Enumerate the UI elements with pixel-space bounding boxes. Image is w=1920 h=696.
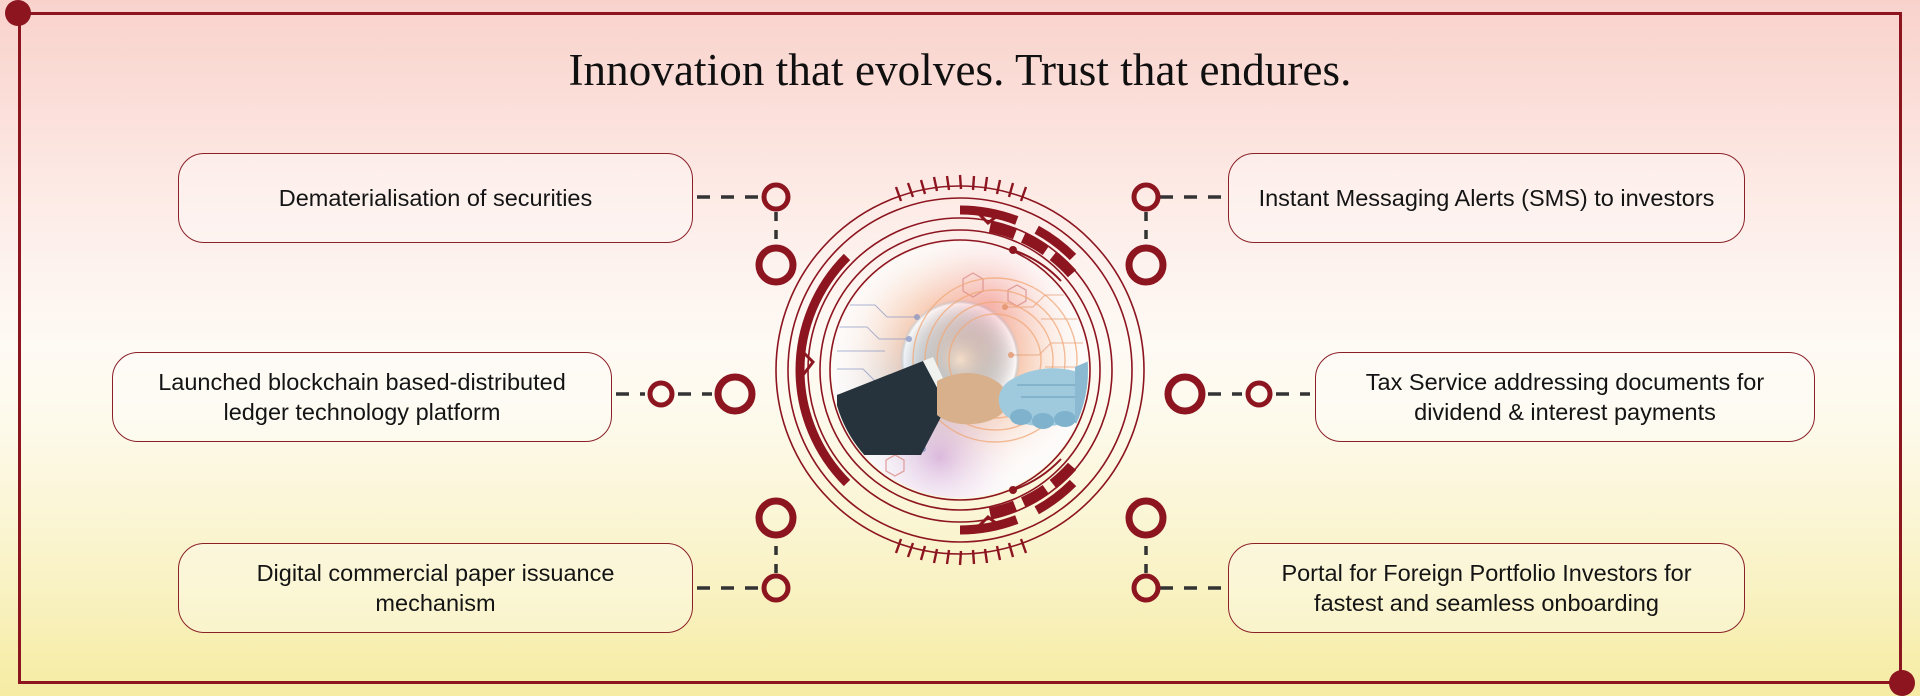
emblem-artwork — [832, 242, 1089, 498]
frame-corner-dot-top-left — [5, 0, 31, 26]
feature-card-tax-service[interactable]: Tax Service addressing documents for div… — [1315, 352, 1815, 442]
feature-card-label: Digital commercial paper issuance mechan… — [197, 558, 674, 618]
feature-card-label: Dematerialisation of securities — [279, 183, 592, 213]
feature-card-label: Portal for Foreign Portfolio Investors f… — [1247, 558, 1726, 618]
feature-card-digital-commercial-paper[interactable]: Digital commercial paper issuance mechan… — [178, 543, 693, 633]
small-ring-node-blockchain — [650, 383, 672, 405]
feature-card-label: Launched blockchain based-distributed le… — [131, 367, 593, 427]
feature-card-label: Instant Messaging Alerts (SMS) to invest… — [1259, 183, 1715, 213]
frame-corner-dot-bottom-right — [1889, 670, 1915, 696]
emblem-tick-marks-bottom — [896, 539, 1026, 565]
feature-card-dematerialisation[interactable]: Dematerialisation of securities — [178, 153, 693, 243]
page-title: Innovation that evolves. Trust that endu… — [0, 44, 1920, 96]
ai-human-handshake-icon — [745, 155, 1175, 585]
emblem-tick-marks-top — [896, 175, 1026, 201]
feature-card-blockchain[interactable]: Launched blockchain based-distributed le… — [112, 352, 612, 442]
feature-card-fpi-portal[interactable]: Portal for Foreign Portfolio Investors f… — [1228, 543, 1745, 633]
small-ring-node-tax — [1248, 383, 1270, 405]
feature-card-instant-messaging-alerts[interactable]: Instant Messaging Alerts (SMS) to invest… — [1228, 153, 1745, 243]
feature-card-label: Tax Service addressing documents for div… — [1334, 367, 1796, 427]
